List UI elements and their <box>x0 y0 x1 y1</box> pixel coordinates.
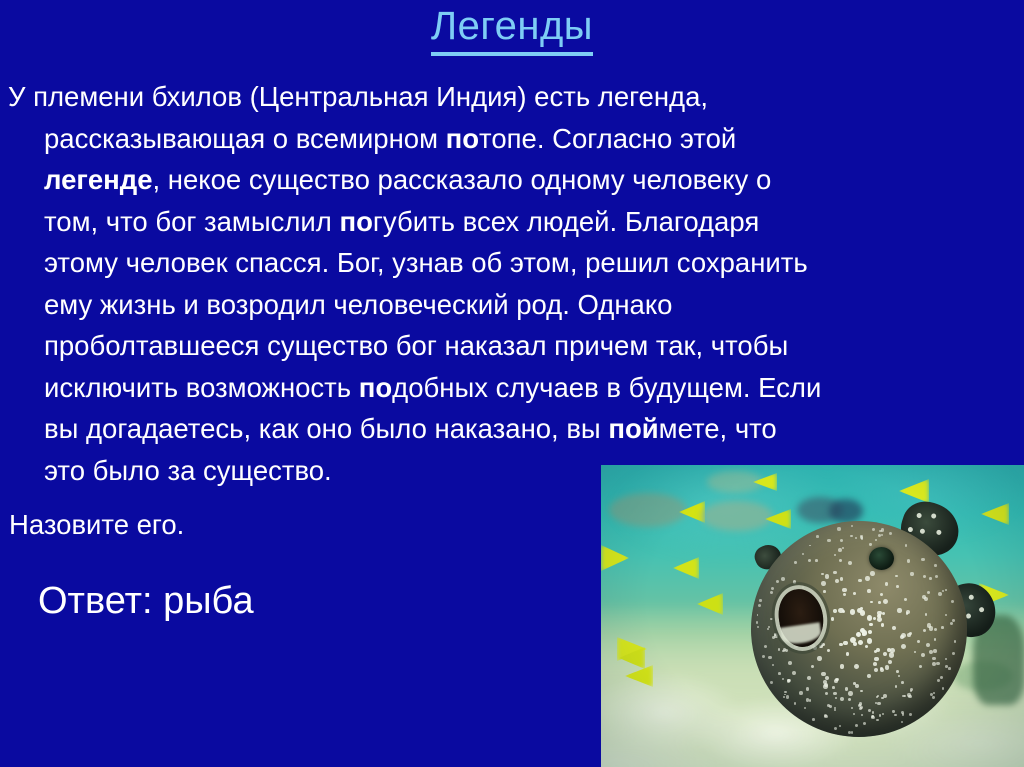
pufferfish-spot <box>788 679 791 682</box>
pufferfish-spot <box>867 638 873 644</box>
text-run: том, что бог замыслил <box>44 206 339 237</box>
pufferfish-spot <box>817 656 822 661</box>
pufferfish-spot <box>877 611 881 615</box>
pufferfish-spot <box>802 553 804 555</box>
answer-text: Ответ: рыба <box>38 578 254 624</box>
pufferfish-spot <box>901 644 906 649</box>
pufferfish-spot <box>772 636 775 639</box>
text-run: , некое существо рассказало одному челов… <box>153 164 772 195</box>
pufferfish-spot <box>877 702 880 705</box>
text-run: губить всех людей. Благодаря <box>373 206 759 237</box>
pufferfish-spot <box>809 545 811 547</box>
pufferfish-spot <box>759 599 761 601</box>
pufferfish-spot <box>813 646 817 650</box>
pufferfish-spot <box>809 699 812 702</box>
pufferfish-spot <box>932 696 934 698</box>
pufferfish-spot <box>896 670 899 673</box>
pufferfish-spot <box>858 579 861 582</box>
pufferfish-spot <box>936 662 940 666</box>
pufferfish-spot <box>848 691 853 696</box>
pufferfish-spot <box>825 692 829 696</box>
background-fish <box>609 493 687 527</box>
pufferfish-spot <box>874 657 878 661</box>
pufferfish-spot <box>819 645 822 648</box>
pufferfish-spot <box>948 667 951 670</box>
pufferfish-spot <box>867 674 871 678</box>
text-run: ему жизнь и возродил человеческий род. О… <box>44 289 672 320</box>
pufferfish-spot <box>872 711 874 713</box>
pufferfish-spot <box>806 687 809 690</box>
pufferfish-spot <box>929 650 933 654</box>
pufferfish-spot <box>875 539 877 541</box>
pufferfish-spot <box>838 608 843 613</box>
text-run: добных случаев в будущем. Если <box>392 372 821 403</box>
pufferfish-spot <box>788 661 792 665</box>
pufferfish-spot <box>889 652 894 657</box>
pufferfish-spot <box>880 667 883 670</box>
page-title: Легенды <box>0 2 1024 56</box>
pufferfish-spot <box>808 559 811 562</box>
pufferfish-spot <box>954 640 957 643</box>
legend-text-line: исключить возможность подобных случаев в… <box>8 367 1018 409</box>
slide-canvas: Легенды У племени бхилов (Центральная Ин… <box>0 0 1024 767</box>
pufferfish-spot <box>942 687 944 689</box>
pufferfish-spot <box>895 575 897 577</box>
pufferfish-spot <box>940 676 943 679</box>
text-run: проболтавшееся существо бог наказал прич… <box>44 330 788 361</box>
legend-text-line: том, что бог замыслил погубить всех люде… <box>8 201 1018 243</box>
pufferfish-spot <box>908 695 912 699</box>
pufferfish-spot <box>861 714 863 716</box>
pufferfish-spot <box>937 679 940 682</box>
pufferfish-spot <box>840 577 843 580</box>
pufferfish-spot <box>896 585 899 588</box>
pufferfish-spot <box>860 690 862 692</box>
pufferfish-spot <box>834 554 836 556</box>
pufferfish-spot <box>825 676 829 680</box>
pufferfish-spot <box>845 687 849 691</box>
pufferfish-spot <box>851 707 853 709</box>
pufferfish-spot <box>848 561 852 565</box>
pufferfish-spot <box>792 671 796 675</box>
pufferfish-spot <box>865 576 870 581</box>
pufferfish-spot <box>872 528 875 531</box>
pufferfish-spot <box>778 648 780 650</box>
pufferfish-spot <box>799 691 803 695</box>
pufferfish-spot <box>881 697 883 699</box>
pufferfish-spot <box>901 721 903 723</box>
pufferfish-spot <box>833 609 837 613</box>
text-run: мете, что <box>659 413 777 444</box>
pufferfish-spot <box>932 657 935 660</box>
pufferfish-spot <box>846 652 849 655</box>
pufferfish-spot <box>879 714 881 716</box>
pufferfish-spot <box>869 543 871 545</box>
pufferfish-spot <box>855 724 858 727</box>
pufferfish-spot <box>869 623 872 626</box>
pufferfish-spot <box>860 706 863 709</box>
pufferfish-spot <box>933 649 937 653</box>
pufferfish-spot <box>867 615 873 621</box>
pufferfish-spot <box>905 544 907 546</box>
pufferfish-spot <box>812 718 815 721</box>
pufferfish <box>751 521 967 737</box>
pufferfish-spot <box>883 694 887 698</box>
pufferfish-spot <box>836 678 839 681</box>
pufferfish-spot <box>768 656 772 660</box>
pufferfish-spot <box>776 580 779 583</box>
pufferfish-spot <box>853 713 855 715</box>
pufferfish-spot <box>917 640 920 643</box>
pufferfish-spot <box>900 635 904 639</box>
legend-body-text: У племени бхилов (Центральная Индия) ест… <box>8 76 1018 491</box>
pufferfish-spot <box>848 698 851 701</box>
pufferfish-spot <box>881 528 884 531</box>
pufferfish-spot <box>868 709 871 712</box>
pufferfish-spot <box>895 685 897 687</box>
pufferfish-spot <box>758 604 761 607</box>
pufferfish-spot <box>910 688 913 691</box>
pufferfish-spot <box>934 638 936 640</box>
text-run: вы догадаетесь, как оно было наказано, в… <box>44 413 608 444</box>
pufferfish-spot <box>950 622 953 625</box>
pufferfish-spot <box>838 548 842 552</box>
pufferfish-spot <box>921 558 925 562</box>
pufferfish-spot <box>923 575 926 578</box>
pufferfish-spot <box>883 599 888 604</box>
pufferfish-spot <box>883 652 887 656</box>
pufferfish-spot <box>837 527 840 530</box>
emphasis-run: по <box>359 372 392 403</box>
emphasis-run: по <box>339 206 372 237</box>
pufferfish-spot <box>892 710 894 712</box>
pufferfish-spot <box>783 696 785 698</box>
pufferfish-spot <box>871 715 874 718</box>
pufferfish-spot <box>876 648 880 652</box>
pufferfish-spot <box>874 668 878 672</box>
pufferfish-spot <box>770 618 772 620</box>
pufferfish-spot <box>904 695 906 697</box>
pufferfish-spot <box>945 658 947 660</box>
background-fish <box>829 499 863 523</box>
pufferfish-spot <box>882 612 885 615</box>
pufferfish-spot <box>831 617 835 621</box>
pufferfish-spot <box>781 577 785 581</box>
pufferfish-spot <box>906 612 909 615</box>
pufferfish-spot <box>834 709 836 711</box>
pufferfish-eye <box>869 547 894 570</box>
pufferfish-spot <box>827 539 830 542</box>
pufferfish-spot <box>932 662 936 666</box>
pufferfish-spot <box>878 534 881 537</box>
pufferfish-spot <box>898 675 900 677</box>
pufferfish-spot <box>914 651 916 653</box>
pufferfish-spot <box>757 614 759 616</box>
pufferfish-spot <box>870 571 875 576</box>
pufferfish-spot <box>921 653 925 657</box>
pufferfish-spot <box>843 593 846 596</box>
pufferfish-spot <box>901 681 904 684</box>
pufferfish-spot <box>840 697 844 701</box>
pufferfish-spot <box>778 672 781 675</box>
pufferfish-spot <box>757 626 759 628</box>
pufferfish-spot <box>762 655 765 658</box>
pufferfish-spot <box>771 587 774 590</box>
pufferfish-spot <box>835 579 839 583</box>
pufferfish-spot <box>851 731 853 733</box>
pufferfish-spot <box>926 643 930 647</box>
legend-text-line: проболтавшееся существо бог наказал прич… <box>8 325 1018 367</box>
pufferfish-spot <box>827 649 830 652</box>
pufferfish-spot <box>851 525 853 527</box>
pufferfish-spot <box>815 559 818 562</box>
pufferfish-spot <box>793 580 797 584</box>
pufferfish-spot <box>794 561 797 564</box>
pufferfish-spot <box>924 597 928 601</box>
pufferfish-spot <box>907 559 910 562</box>
pufferfish-spot <box>807 676 811 680</box>
pufferfish-spot <box>933 692 935 694</box>
pufferfish-spot <box>873 617 876 620</box>
pufferfish-spot <box>770 591 774 595</box>
pufferfish-spot <box>833 571 836 574</box>
pufferfish-spot <box>867 589 871 593</box>
pufferfish-spot <box>938 592 942 596</box>
pufferfish-spot <box>880 593 883 596</box>
pufferfish-spot <box>951 600 954 603</box>
pufferfish-spot <box>876 719 879 722</box>
pufferfish-spot <box>868 630 873 635</box>
pufferfish-spot <box>885 665 889 669</box>
pufferfish-spot <box>840 539 843 542</box>
pufferfish-spot <box>925 613 927 615</box>
pufferfish-spot <box>881 623 885 627</box>
pufferfish-spot <box>859 702 862 705</box>
legend-text-line: вы догадаетесь, как оно было наказано, в… <box>8 408 1018 450</box>
pufferfish-spot <box>794 702 797 705</box>
pufferfish-spot <box>824 683 828 687</box>
pufferfish-spot <box>835 697 837 699</box>
pufferfish-spot <box>850 535 852 537</box>
pufferfish-spot <box>935 575 938 578</box>
pufferfish-spot <box>764 645 767 648</box>
pufferfish-spot <box>870 601 873 604</box>
pufferfish-spot <box>804 707 806 709</box>
pufferfish-spot <box>854 664 859 669</box>
pufferfish-spot <box>832 686 835 689</box>
pufferfish-spot <box>811 665 814 668</box>
emphasis-run: легенде <box>44 164 153 195</box>
pufferfish-spot <box>855 537 857 539</box>
pufferfish-spot <box>892 626 896 630</box>
pufferfish-spot <box>882 713 884 715</box>
text-run: топе. Согласно этой <box>479 123 736 154</box>
pufferfish-spot <box>843 641 848 646</box>
pufferfish-spot <box>821 581 826 586</box>
pufferfish-spot <box>909 632 912 635</box>
pufferfish-spot <box>782 678 784 680</box>
text-run: это было за существо. <box>44 455 332 486</box>
prompt-text: Назовите его. <box>9 506 184 544</box>
pufferfish-spot <box>945 589 947 591</box>
pufferfish-spot <box>919 665 922 668</box>
pufferfish-spot <box>816 535 819 538</box>
pufferfish-spot <box>802 586 805 589</box>
pufferfish-spot <box>889 532 892 535</box>
pufferfish-spot <box>865 645 868 648</box>
pufferfish-spot <box>888 660 892 664</box>
pufferfish-spot <box>786 695 789 698</box>
legend-text-line: У племени бхилов (Центральная Индия) ест… <box>8 76 1018 118</box>
pufferfish-spot <box>873 662 877 666</box>
emphasis-run: по <box>446 123 479 154</box>
legend-text-line: легенде, некое существо рассказало одном… <box>8 159 1018 201</box>
pufferfish-spot <box>833 692 836 695</box>
pufferfish-spot <box>885 582 888 585</box>
pufferfish-spot <box>853 592 856 595</box>
pufferfish-spot <box>853 642 857 646</box>
pufferfish-spot <box>927 591 930 594</box>
pufferfish-spot <box>834 727 837 730</box>
pufferfish-spot <box>839 559 842 562</box>
pufferfish-spot <box>850 609 856 615</box>
pufferfish-spot <box>897 608 901 612</box>
pufferfish-spot <box>756 621 759 624</box>
pufferfish-spot <box>923 629 927 633</box>
pufferfish-spot <box>941 626 944 629</box>
text-run: рассказывающая о всемирном <box>44 123 446 154</box>
pufferfish-spot <box>881 534 883 536</box>
pufferfish-photo <box>601 465 1024 767</box>
legend-text-line: рассказывающая о всемирном потопе. Согла… <box>8 118 1018 160</box>
text-run: исключить возможность <box>44 372 359 403</box>
pufferfish-spot <box>934 564 937 567</box>
pufferfish-spot <box>942 590 945 593</box>
pufferfish-spot <box>902 713 904 715</box>
pufferfish-spot <box>952 619 955 622</box>
pufferfish-spot <box>894 714 896 716</box>
pufferfish-spot <box>934 628 937 631</box>
legend-text-line: ему жизнь и возродил человеческий род. О… <box>8 284 1018 326</box>
pufferfish-spot <box>909 713 912 716</box>
text-run: этому человек спасся. Бог, узнав об этом… <box>44 247 808 278</box>
pufferfish-spot <box>839 643 842 646</box>
page-title-text: Легенды <box>431 2 593 56</box>
pufferfish-spot <box>927 623 931 627</box>
pufferfish-spot <box>842 588 846 592</box>
pufferfish-spot <box>825 574 829 578</box>
text-run: У племени бхилов (Центральная Индия) ест… <box>8 81 708 112</box>
pufferfish-spot <box>783 648 786 651</box>
pufferfish-spot <box>878 601 881 604</box>
pufferfish-spot <box>842 547 844 549</box>
pufferfish-spot <box>904 598 907 601</box>
pufferfish-spot <box>910 572 913 575</box>
pufferfish-spot <box>860 610 866 616</box>
pufferfish-spot <box>772 664 774 666</box>
legend-text-line: этому человек спасся. Бог, узнав об этом… <box>8 242 1018 284</box>
pufferfish-spot <box>770 681 773 684</box>
pufferfish-spot <box>945 614 947 616</box>
pufferfish-spot <box>821 573 824 576</box>
pufferfish-spot <box>823 590 826 593</box>
pufferfish-spot <box>858 640 863 645</box>
pufferfish-spot <box>863 722 866 725</box>
pufferfish-spot <box>839 725 841 727</box>
pufferfish-spot <box>855 684 859 688</box>
pufferfish-spot <box>929 577 932 580</box>
pufferfish-spot <box>875 702 877 704</box>
pufferfish-spot <box>952 652 955 655</box>
emphasis-run: пой <box>608 413 658 444</box>
pufferfish-spot <box>824 715 827 718</box>
pufferfish-spot <box>840 664 845 669</box>
